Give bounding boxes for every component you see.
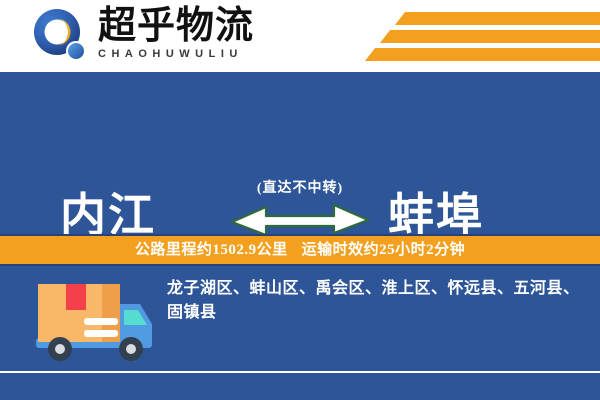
duration-text: 运输时效约25小时2分钟	[302, 241, 466, 259]
header-stripe-1	[395, 12, 600, 25]
double-headed-arrow-icon	[230, 202, 370, 236]
distance-text: 公路里程约1502.9公里	[135, 241, 288, 259]
route-panel: 内江 (直达不中转) 【往返运输】 蚌埠	[0, 72, 600, 232]
info-bar: 公路里程约1502.9公里 运输时效约25小时2分钟	[0, 234, 600, 266]
company-name-pinyin: CHAOHUWULIU	[98, 48, 278, 60]
header-stripe-3	[365, 48, 600, 61]
banner-header: 超乎物流 CHAOHUWULIU	[0, 0, 600, 72]
circle-q-logo-icon	[33, 8, 89, 64]
route-note-top: (直达不中转)	[215, 180, 385, 198]
logo-wordmark: 超乎物流 CHAOHUWULIU	[98, 6, 278, 60]
bottom-divider	[0, 371, 600, 373]
header-stripe-2	[380, 30, 600, 43]
delivery-truck-icon	[28, 276, 158, 364]
coverage-districts-text: 龙子湖区、蚌山区、禹会区、淮上区、怀远县、五河县、固镇县	[167, 277, 587, 325]
company-name-cn: 超乎物流	[98, 6, 278, 46]
logistics-route-banner: 超乎物流 CHAOHUWULIU 内江 (直达不中转) 【往返运输】 蚌埠 公路…	[0, 0, 600, 400]
